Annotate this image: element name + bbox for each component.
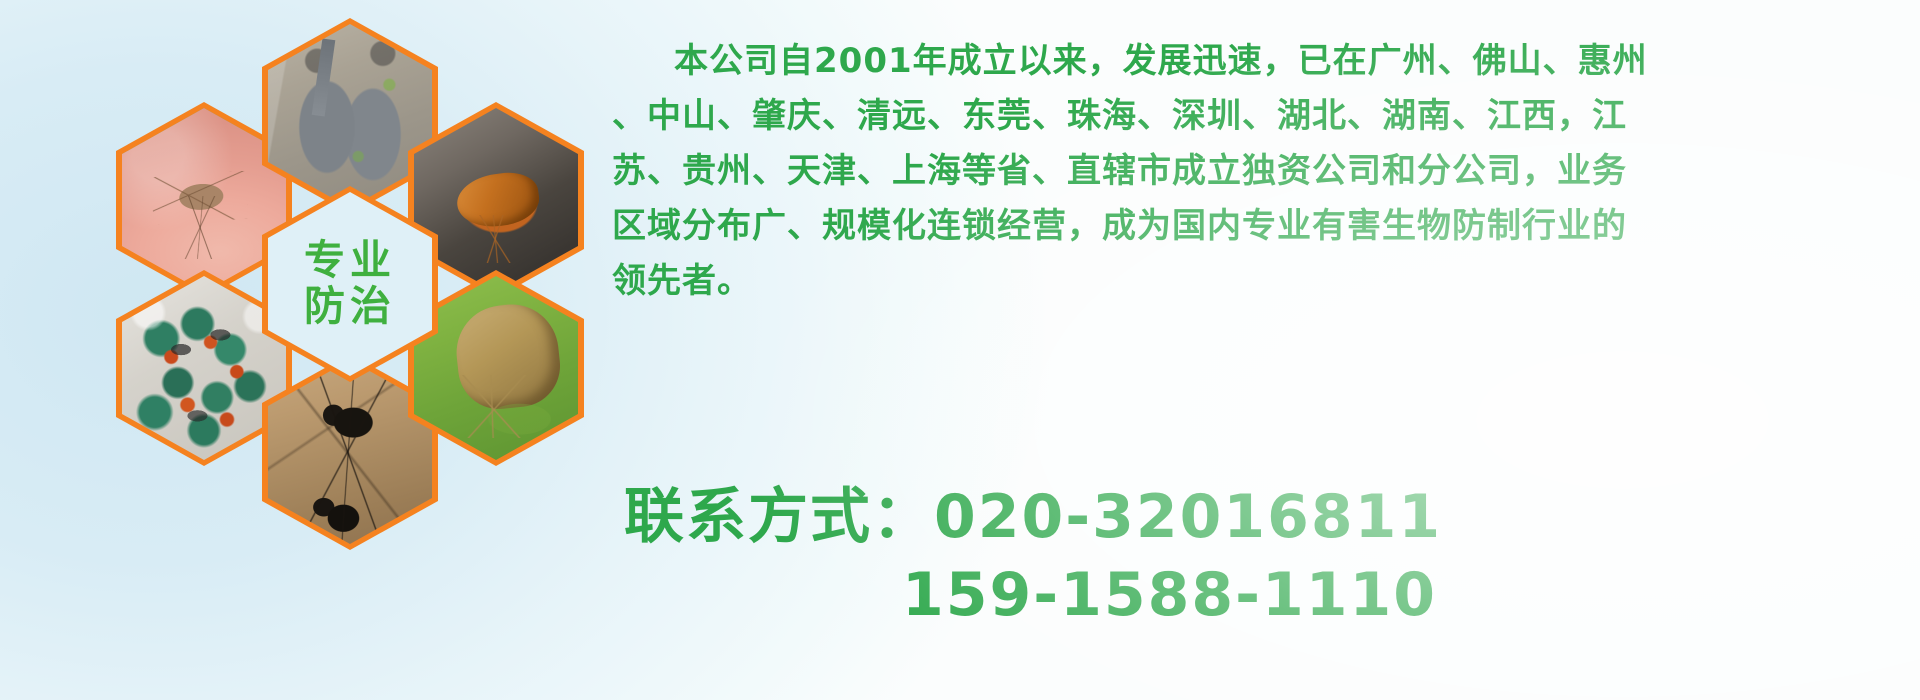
stinkbug-photo: [414, 276, 578, 460]
mosquito-photo: [122, 108, 286, 292]
flies-photo: [122, 276, 286, 460]
slogan-text: 专业 防治: [304, 238, 396, 330]
slogan-line-2: 防治: [304, 284, 396, 330]
cockroach-photo: [414, 108, 578, 292]
slogan-line-1: 专业: [304, 238, 396, 284]
intro-line: 本公司自2001年成立以来，发展迅速，已在广州、佛山、惠州: [612, 34, 1908, 89]
intro-line: 领先者。: [612, 254, 1908, 309]
contact-phone-landline[interactable]: 联系方式：020-32016811: [612, 478, 1908, 556]
contact-phone-mobile[interactable]: 159-1588-1110: [612, 556, 1908, 634]
honeycomb-collage: 专业 防治: [78, 0, 598, 590]
promo-banner: 专业 防治 本公司自2001年成立以来，发展迅速，已在广州、佛山、惠州 、中山、…: [0, 0, 1920, 700]
ants-photo: [268, 360, 432, 544]
intro-line: 区域分布广、规模化连锁经营，成为国内专业有害生物防制行业的: [612, 199, 1908, 254]
company-intro-paragraph: 本公司自2001年成立以来，发展迅速，已在广州、佛山、惠州 、中山、肇庆、清远、…: [612, 34, 1908, 309]
intro-line: 苏、贵州、天津、上海等省、直辖市成立独资公司和分公司，业务: [612, 144, 1908, 199]
contact-block: 联系方式：020-32016811 159-1588-1110: [612, 478, 1908, 634]
rodents-photo: [268, 24, 432, 208]
content-column: 本公司自2001年成立以来，发展迅速，已在广州、佛山、惠州 、中山、肇庆、清远、…: [612, 0, 1908, 700]
intro-line: 、中山、肇庆、清远、东莞、珠海、深圳、湖北、湖南、江西，江: [612, 89, 1908, 144]
